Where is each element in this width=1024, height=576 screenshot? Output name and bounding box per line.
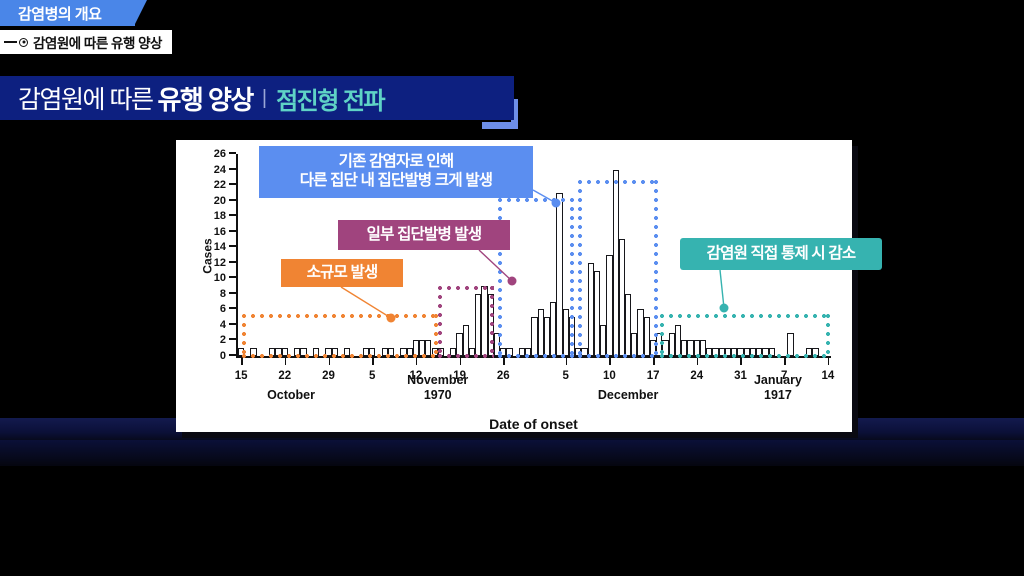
y-tick <box>229 307 236 309</box>
breadcrumb-sub[interactable]: 감염원에 따른 유행 양상 <box>0 30 172 54</box>
x-tick-label: 17 <box>647 370 660 382</box>
x-tick <box>609 358 611 365</box>
navy-band-lower <box>0 440 1024 466</box>
annotation-partial-cluster: 일부 집단발병 발생 <box>338 220 510 250</box>
y-tick <box>229 183 236 185</box>
x-tick <box>285 358 287 365</box>
bullet-dot-icon <box>4 38 28 47</box>
x-tick <box>828 358 830 365</box>
bar <box>438 348 444 356</box>
y-tick <box>229 276 236 278</box>
y-tick-label: 20 <box>214 195 226 207</box>
x-tick <box>372 358 374 365</box>
bar <box>282 348 288 356</box>
title-part-accent: 점진형 전파 <box>276 81 384 116</box>
y-tick <box>229 245 236 247</box>
y-tick <box>229 168 236 170</box>
x-tick-label: 31 <box>734 370 747 382</box>
x-axis-month-label: November1970 <box>407 373 468 402</box>
bar <box>344 348 350 356</box>
y-tick <box>229 354 236 356</box>
y-tick-label: 18 <box>214 210 226 222</box>
y-tick-label: 26 <box>214 148 226 160</box>
x-tick <box>416 358 418 365</box>
x-axis-title: Date of onset <box>489 416 578 432</box>
y-tick-label: 24 <box>214 164 226 176</box>
y-tick-label: 8 <box>220 288 226 300</box>
y-tick <box>229 214 236 216</box>
bar <box>238 348 244 356</box>
annotation-large-cluster: 기존 감염자로 인해다른 집단 내 집단발병 크게 발생 <box>259 146 533 198</box>
x-tick <box>784 358 786 365</box>
bar <box>250 348 256 356</box>
x-tick-label: 29 <box>322 370 335 382</box>
x-tick-label: 26 <box>497 370 510 382</box>
breadcrumb-top-label: 감염병의 개요 <box>18 3 101 24</box>
bar <box>769 348 775 356</box>
x-tick <box>740 358 742 365</box>
x-tick <box>653 358 655 365</box>
annotation-line: 다른 집단 내 집단발병 크게 발생 <box>300 172 493 191</box>
x-tick <box>241 358 243 365</box>
x-tick <box>329 358 331 365</box>
x-tick-label: 15 <box>235 370 248 382</box>
bar <box>506 348 512 356</box>
y-tick <box>229 261 236 263</box>
x-tick-label: 22 <box>278 370 291 382</box>
x-tick <box>697 358 699 365</box>
bar <box>812 348 818 356</box>
y-tick <box>229 230 236 232</box>
breadcrumb-sub-label: 감염원에 따른 유행 양상 <box>33 32 162 52</box>
y-tick-label: 4 <box>220 319 226 331</box>
y-tick-label: 0 <box>220 350 226 362</box>
annotation-line: 기존 감염자로 인해 <box>339 153 454 172</box>
x-axis-month-label: October <box>267 388 315 402</box>
y-tick-label: 14 <box>214 241 226 253</box>
title-part-light: 감염원에 따른 <box>18 80 152 116</box>
x-tick-label: 14 <box>821 370 834 382</box>
y-tick-label: 6 <box>220 303 226 315</box>
x-tick <box>566 358 568 365</box>
y-tick <box>229 323 236 325</box>
y-axis-title: Cases <box>201 238 215 273</box>
y-tick <box>229 199 236 201</box>
x-tick-label: 5 <box>563 370 569 382</box>
annotation-small-scale: 소규모 발생 <box>281 259 403 287</box>
bar <box>300 348 306 356</box>
slide-canvas: 감염병의 개요 감염원에 따른 유행 양상 감염원에 따른 유행 양상 | 점진… <box>0 0 1024 576</box>
x-tick-label: 5 <box>369 370 375 382</box>
x-tick <box>460 358 462 365</box>
x-tick-label: 10 <box>603 370 616 382</box>
y-tick-label: 16 <box>214 226 226 238</box>
y-tick <box>229 338 236 340</box>
y-tick-label: 2 <box>220 334 226 346</box>
y-tick-label: 12 <box>214 257 226 269</box>
y-tick-label: 22 <box>214 179 226 191</box>
y-tick <box>229 292 236 294</box>
x-tick <box>503 358 505 365</box>
x-axis-month-label: January1917 <box>754 373 802 402</box>
annotation-source-control: 감염원 직접 통제 시 감소 <box>680 238 882 270</box>
bar <box>787 333 793 356</box>
bar <box>332 348 338 356</box>
title-separator: | <box>262 87 267 110</box>
bar <box>313 348 319 356</box>
slide-title: 감염원에 따른 유행 양상 | 점진형 전파 <box>0 76 514 120</box>
breadcrumb-top[interactable]: 감염병의 개요 <box>0 0 135 26</box>
bar <box>369 348 375 356</box>
y-tick-label: 10 <box>214 272 226 284</box>
y-tick <box>229 152 236 154</box>
x-axis-month-label: December <box>598 388 658 402</box>
x-tick-label: 24 <box>690 370 703 382</box>
title-part-bold: 유행 양상 <box>157 80 252 117</box>
bar <box>388 348 394 356</box>
